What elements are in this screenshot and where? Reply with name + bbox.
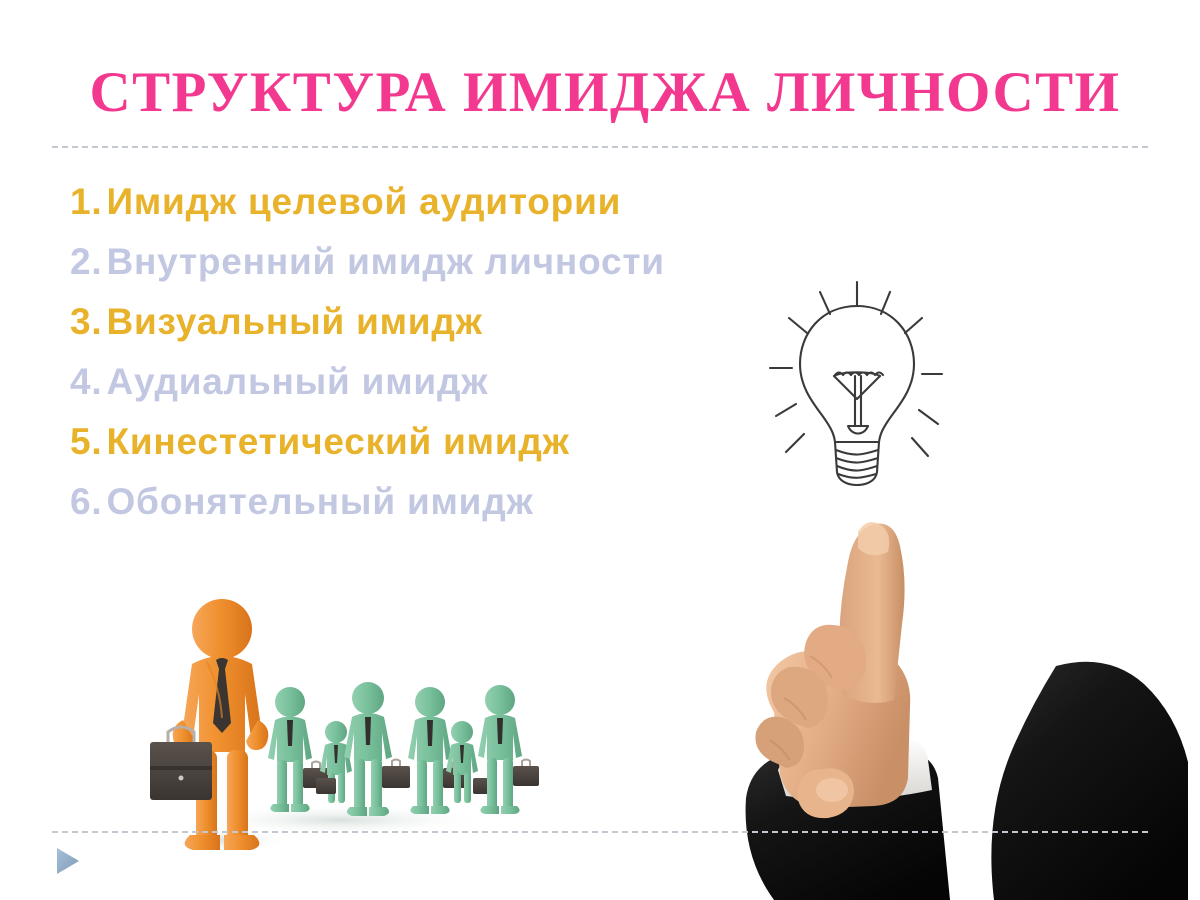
pointing-hand-illustration	[700, 498, 1200, 900]
next-slide-triangle-icon[interactable]	[55, 846, 81, 876]
list-item-1-label: Имидж целевой аудитории	[106, 181, 621, 222]
list-item-4-label: Аудиальный имидж	[106, 361, 488, 402]
list-item-2-number: 2.	[70, 241, 102, 282]
list-item-3-label: Визуальный имидж	[106, 301, 482, 342]
list-item-6-label: Обонятельный имидж	[106, 481, 533, 522]
lightbulb-icon	[762, 276, 952, 486]
list-item-3-number: 3.	[70, 301, 102, 342]
list-item-1[interactable]: 1.Имидж целевой аудитории	[70, 172, 890, 232]
footer-divider	[52, 831, 1148, 833]
list-item-6-number: 6.	[70, 481, 102, 522]
list-item-2-label: Внутренний имидж личности	[106, 241, 664, 282]
page-title: СТРУКТУРА ИМИДЖА ЛИЧНОСТИ	[60, 62, 1150, 124]
list-item-4-number: 4.	[70, 361, 102, 402]
slide-canvas: СТРУКТУРА ИМИДЖА ЛИЧНОСТИ 1.Имидж целево…	[0, 0, 1200, 900]
business-people-illustration	[140, 592, 560, 862]
list-item-1-number: 1.	[70, 181, 102, 222]
title-divider	[52, 146, 1148, 148]
list-item-5-label: Кинестетический имидж	[106, 421, 569, 462]
list-item-5-number: 5.	[70, 421, 102, 462]
